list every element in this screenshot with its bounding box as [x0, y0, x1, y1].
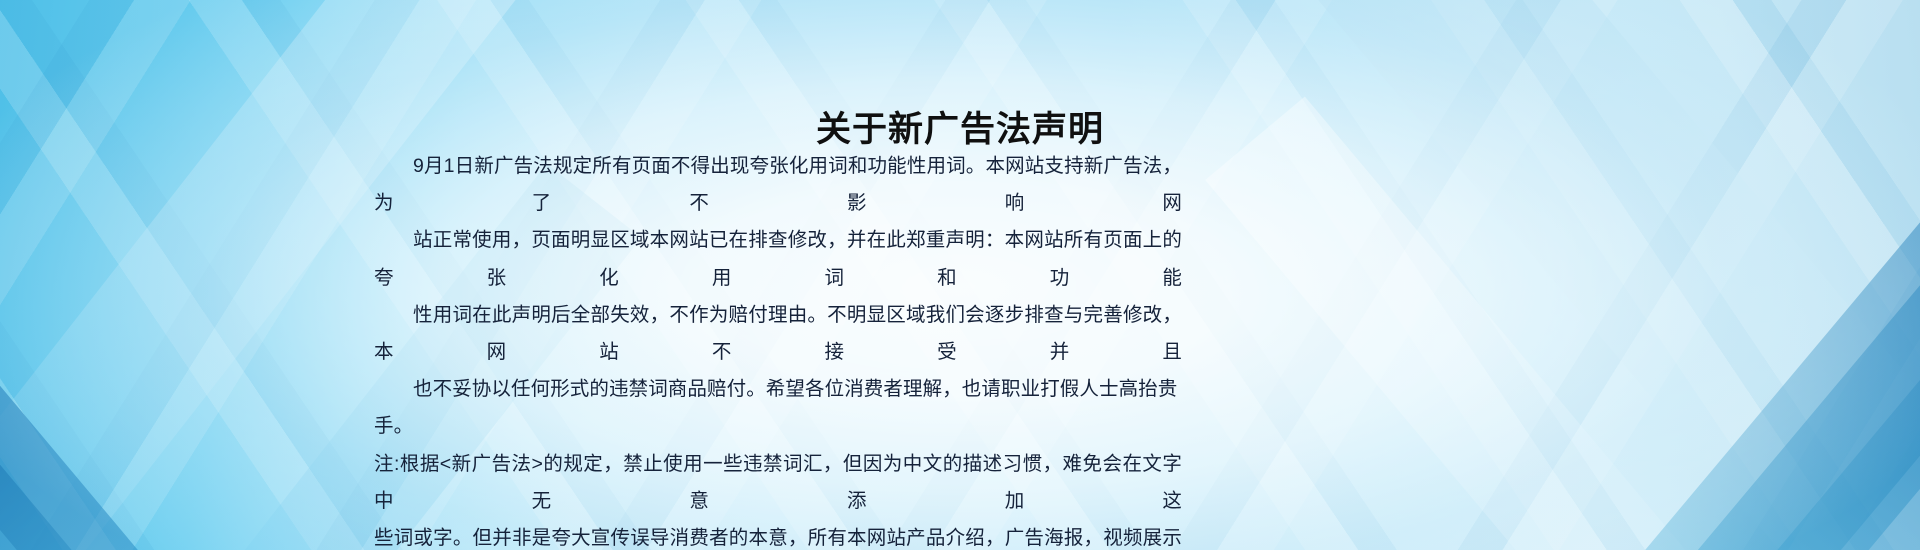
statement-body: 9月1日新广告法规定所有页面不得出现夸张化用词和功能性用词。本网站支持新广告法，… [374, 148, 1182, 550]
statement-line: 些词或字。但并非是夸大宣传误导消费者的本意，所有本网站产品介绍，广告海报，视频展… [374, 520, 1182, 550]
ad-law-statement-banner: 关于新广告法声明 9月1日新广告法规定所有页面不得出现夸张化用词和功能性用词。本… [0, 0, 1920, 550]
statement-line: 性用词在此声明后全部失效，不作为赔付理由。不明显区域我们会逐步排查与完善修改，本… [374, 297, 1182, 371]
page-title: 关于新广告法声明 [0, 109, 1920, 151]
statement-line: 站正常使用，页面明显区域本网站已在排查修改，并在此郑重声明：本网站所有页面上的夸… [374, 222, 1182, 296]
statement-paragraph-note: 注:根据<新广告法>的规定，禁止使用一些违禁词汇，但因为中文的描述习惯，难免会在… [374, 446, 1182, 550]
statement-line: 注:根据<新广告法>的规定，禁止使用一些违禁词汇，但因为中文的描述习惯，难免会在… [374, 446, 1182, 520]
statement-content: 关于新广告法声明 9月1日新广告法规定所有页面不得出现夸张化用词和功能性用词。本… [0, 0, 1920, 550]
statement-line: 也不妥协以任何形式的违禁词商品赔付。希望各位消费者理解，也请职业打假人士高抬贵手… [374, 371, 1182, 445]
statement-line: 9月1日新广告法规定所有页面不得出现夸张化用词和功能性用词。本网站支持新广告法，… [374, 148, 1182, 222]
statement-paragraph-main: 9月1日新广告法规定所有页面不得出现夸张化用词和功能性用词。本网站支持新广告法，… [374, 148, 1182, 446]
